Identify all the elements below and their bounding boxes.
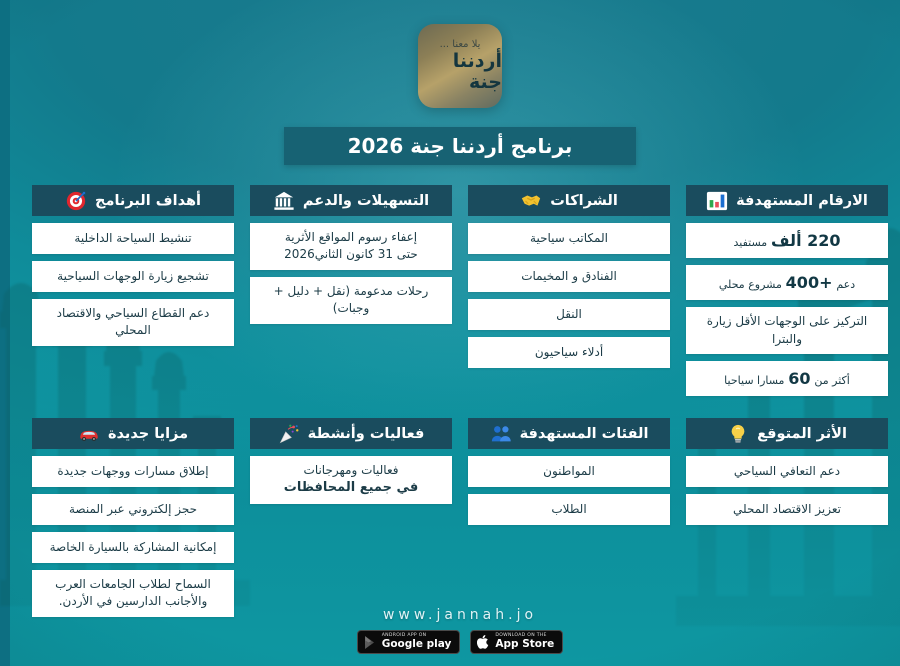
card-facilities-support: التسهيلات والدعم إعفاء رسوم المواقع الأث… bbox=[240, 185, 442, 396]
card-item: رحلات مدعومة (نقل + دليل + وجبات) bbox=[240, 277, 442, 324]
card-item: 220 ألف مستفيد bbox=[676, 223, 878, 258]
card-item-fragment: 220 ألف bbox=[761, 235, 831, 249]
card-item-fragment: +400 bbox=[776, 277, 823, 291]
card-body-events-activities: فعاليات ومهرجاناتفي جميع المحافظات bbox=[240, 456, 442, 504]
card-item: دعم +400 مشروع محلي bbox=[676, 265, 878, 300]
card-item: أدلاء سياحيون bbox=[458, 337, 660, 368]
card-title: أهداف البرنامج bbox=[85, 193, 191, 209]
card-item-text: رحلات مدعومة (نقل + دليل + وجبات) bbox=[248, 283, 434, 318]
app-badges: ANDROID APP ON Google play Download on t… bbox=[347, 630, 554, 654]
card-icon-wrapper bbox=[263, 190, 285, 212]
card-body-new-benefits: إطلاق مسارات ووجهات جديدةحجز إلكتروني عب… bbox=[22, 456, 224, 617]
google-play-badge-title: Google play bbox=[372, 639, 442, 650]
card-new-benefits: مزايا جديدة إطلاق مسارات ووجهات جديدةحجز… bbox=[22, 418, 224, 617]
card-item-text: النقل bbox=[546, 306, 572, 323]
card-item: إطلاق مسارات ووجهات جديدة bbox=[22, 456, 224, 487]
car-icon bbox=[68, 423, 90, 445]
card-item: تنشيط السياحة الداخلية bbox=[22, 223, 224, 254]
card-partnerships: الشراكات المكاتب سياحيةالفنادق و المخيما… bbox=[458, 185, 660, 396]
brand-logo: يلا معنا ... أردننا جنة bbox=[408, 24, 492, 108]
target-icon bbox=[55, 190, 77, 212]
card-item: إمكانية المشاركة بالسيارة الخاصة bbox=[22, 532, 224, 563]
card-header-new-benefits: مزايا جديدة bbox=[22, 418, 224, 449]
card-title: الفئات المستهدفة bbox=[510, 426, 639, 442]
card-header-targeted-numbers: الارقام المستهدفة bbox=[676, 185, 878, 216]
card-item-text: تعزيز الاقتصاد المحلي bbox=[723, 501, 831, 518]
card-item-fragment: 60 bbox=[778, 373, 800, 387]
card-body-targeted-numbers: 220 ألف مستفيددعم +400 مشروع محليالتركيز… bbox=[676, 223, 878, 396]
card-item-text: المواطنون bbox=[533, 463, 585, 480]
card-item: أكثر من 60 مسارا سياحيا bbox=[676, 361, 878, 396]
app-store-badge[interactable]: Download on the App Store bbox=[460, 630, 553, 654]
card-target-groups: الفئات المستهدفة المواطنونالطلاب bbox=[458, 418, 660, 617]
party-popper-icon bbox=[268, 423, 290, 445]
card-item-text: أكثر من 60 مسارا سياحيا bbox=[714, 367, 840, 390]
card-icon-wrapper bbox=[480, 423, 502, 445]
card-item-text: الطلاب bbox=[541, 501, 576, 518]
card-item-text: دعم +400 مشروع محلي bbox=[709, 271, 845, 294]
logo-tagline: يلا معنا ... bbox=[430, 39, 471, 50]
card-icon-wrapper bbox=[55, 190, 77, 212]
card-item: المكاتب سياحية bbox=[458, 223, 660, 254]
card-header-facilities-support: التسهيلات والدعم bbox=[240, 185, 442, 216]
card-item-fragment: دعم bbox=[826, 278, 845, 291]
handshake-icon bbox=[510, 190, 532, 212]
bar-chart-icon bbox=[696, 190, 718, 212]
apple-icon bbox=[467, 634, 480, 650]
card-item-text: تنشيط السياحة الداخلية bbox=[64, 230, 181, 247]
card-item: إعفاء رسوم المواقع الأثريةحتى 31 كانون ا… bbox=[240, 223, 442, 270]
page-title-bar: برنامج أردننا جنة 2026 bbox=[274, 127, 626, 165]
card-item: الطلاب bbox=[458, 494, 660, 525]
card-item-text: إعفاء رسوم المواقع الأثريةحتى 31 كانون ا… bbox=[274, 229, 408, 264]
card-title: الشراكات bbox=[540, 193, 608, 209]
card-item-text: التركيز على الوجهات الأقل زيارة والبترا bbox=[684, 313, 870, 348]
card-targeted-numbers: الارقام المستهدفة 220 ألف مستفيددعم +400… bbox=[676, 185, 878, 396]
card-item: دعم القطاع السياحي والاقتصاد المحلي bbox=[22, 299, 224, 346]
museum-icon bbox=[263, 190, 285, 212]
logo-name: أردننا جنة bbox=[408, 51, 492, 93]
card-title: التسهيلات والدعم bbox=[293, 193, 419, 209]
card-icon-wrapper bbox=[696, 190, 718, 212]
card-title: الأثر المتوقع bbox=[747, 426, 837, 442]
card-header-program-goals: أهداف البرنامج bbox=[22, 185, 224, 216]
card-expected-impact: الأثر المتوقع دعم التعافي السياحيتعزيز ا… bbox=[676, 418, 878, 617]
card-item-text: السماح لطلاب الجامعات العربوالأجانب الدا… bbox=[45, 576, 201, 611]
card-item-line-2: حتى 31 كانون الثاني2026 bbox=[274, 246, 408, 263]
card-body-partnerships: المكاتب سياحيةالفنادق و المخيماتالنقلأدل… bbox=[458, 223, 660, 368]
card-title: الارقام المستهدفة bbox=[726, 193, 858, 209]
card-header-events-activities: فعاليات وأنشطة bbox=[240, 418, 442, 449]
card-item-fragment: مشروع محلي bbox=[709, 278, 772, 291]
card-events-activities: فعاليات وأنشطة فعاليات ومهرجاناتفي جميع … bbox=[240, 418, 442, 617]
card-body-program-goals: تنشيط السياحة الداخليةتشجيع زيارة الوجها… bbox=[22, 223, 224, 346]
card-item: الفنادق و المخيمات bbox=[458, 261, 660, 292]
page-title: برنامج أردننا جنة 2026 bbox=[338, 134, 563, 158]
card-item-text: إطلاق مسارات ووجهات جديدة bbox=[47, 463, 198, 480]
google-play-icon bbox=[354, 635, 367, 650]
card-item-text: دعم التعافي السياحي bbox=[724, 463, 830, 480]
card-item-line-1: فعاليات ومهرجانات bbox=[274, 462, 408, 479]
footer: www.jannah.jo ANDROID APP ON Google play… bbox=[0, 607, 900, 654]
card-item: تعزيز الاقتصاد المحلي bbox=[676, 494, 878, 525]
website-url[interactable]: www.jannah.jo bbox=[373, 607, 527, 623]
card-item: حجز إلكتروني عبر المنصة bbox=[22, 494, 224, 525]
card-item-fragment: مسارا سياحيا bbox=[714, 374, 774, 387]
card-header-partnerships: الشراكات bbox=[458, 185, 660, 216]
card-item: فعاليات ومهرجاناتفي جميع المحافظات bbox=[240, 456, 442, 504]
card-icon-wrapper bbox=[717, 423, 739, 445]
card-title: مزايا جديدة bbox=[98, 426, 178, 442]
card-item-text: المكاتب سياحية bbox=[520, 230, 598, 247]
card-item-text: الفنادق و المخيمات bbox=[511, 268, 607, 285]
card-item-text: 220 ألف مستفيد bbox=[723, 229, 830, 252]
card-item-text: دعم القطاع السياحي والاقتصاد المحلي bbox=[30, 305, 216, 340]
card-item-text: فعاليات ومهرجاناتفي جميع المحافظات bbox=[274, 462, 408, 498]
card-item: المواطنون bbox=[458, 456, 660, 487]
card-item-text: إمكانية المشاركة بالسيارة الخاصة bbox=[40, 539, 207, 556]
app-store-badge-title: App Store bbox=[485, 639, 544, 650]
google-play-badge[interactable]: ANDROID APP ON Google play bbox=[347, 630, 451, 654]
card-header-expected-impact: الأثر المتوقع bbox=[676, 418, 878, 449]
card-item: دعم التعافي السياحي bbox=[676, 456, 878, 487]
card-item-line-1: السماح لطلاب الجامعات العرب bbox=[45, 576, 201, 593]
card-item-text: حجز إلكتروني عبر المنصة bbox=[59, 501, 187, 518]
card-item-text: أدلاء سياحيون bbox=[525, 344, 593, 361]
cards-row-bottom: الأثر المتوقع دعم التعافي السياحيتعزيز ا… bbox=[0, 418, 900, 617]
card-icon-wrapper bbox=[268, 423, 290, 445]
card-icon-wrapper bbox=[68, 423, 90, 445]
card-item-line-2: في جميع المحافظات bbox=[274, 479, 408, 498]
card-item-fragment: أكثر من bbox=[804, 374, 839, 387]
card-item: تشجيع زيارة الوجهات السياحية bbox=[22, 261, 224, 292]
card-item: النقل bbox=[458, 299, 660, 330]
card-program-goals: أهداف البرنامج تنشيط السياحة الداخليةتشج… bbox=[22, 185, 224, 396]
card-title: فعاليات وأنشطة bbox=[298, 426, 415, 442]
card-icon-wrapper bbox=[510, 190, 532, 212]
people-icon bbox=[480, 423, 502, 445]
cards-row-top: الارقام المستهدفة 220 ألف مستفيددعم +400… bbox=[0, 185, 900, 396]
card-body-facilities-support: إعفاء رسوم المواقع الأثريةحتى 31 كانون ا… bbox=[240, 223, 442, 324]
card-body-target-groups: المواطنونالطلاب bbox=[458, 456, 660, 525]
card-item: التركيز على الوجهات الأقل زيارة والبترا bbox=[676, 307, 878, 354]
lightbulb-icon bbox=[717, 423, 739, 445]
card-header-target-groups: الفئات المستهدفة bbox=[458, 418, 660, 449]
card-item-line-1: إعفاء رسوم المواقع الأثرية bbox=[274, 229, 408, 246]
card-item-text: تشجيع زيارة الوجهات السياحية bbox=[47, 268, 199, 285]
card-body-expected-impact: دعم التعافي السياحيتعزيز الاقتصاد المحلي bbox=[676, 456, 878, 525]
card-item-fragment: مستفيد bbox=[723, 236, 757, 249]
